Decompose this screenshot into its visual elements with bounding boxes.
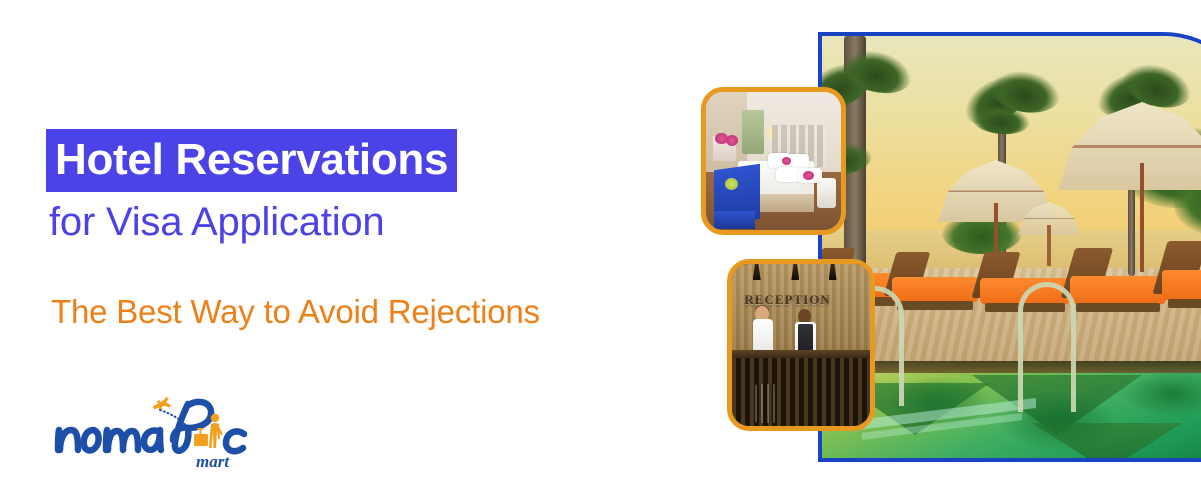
tagline: The Best Way to Avoid Rejections xyxy=(51,294,540,330)
suitcase-icon xyxy=(755,384,776,423)
hotel-room-photo xyxy=(701,87,846,235)
page-title: Hotel Reservations xyxy=(46,129,457,192)
nomadic-mart-logo[interactable]: mart xyxy=(48,388,258,478)
wardrobe-icon xyxy=(742,110,764,154)
banner-text-column: Hotel Reservations for Visa Application … xyxy=(0,0,690,501)
parasol-icon xyxy=(1018,202,1080,266)
bed-runner-skirt xyxy=(714,211,755,229)
hotel-reception-photo: RECEPTION xyxy=(727,259,875,431)
photo-collage: RECEPTION xyxy=(690,0,1201,501)
hotel-reservations-banner: Hotel Reservations for Visa Application … xyxy=(0,0,1201,501)
flowers-icon xyxy=(782,157,791,165)
resort-pool-sunset-photo xyxy=(818,32,1201,462)
reception-desk-top xyxy=(732,350,870,358)
nightstand-icon xyxy=(817,178,836,208)
sun-lounger-icon xyxy=(892,262,978,310)
sun-lounger-icon xyxy=(1162,250,1201,308)
subheadline: for Visa Application xyxy=(49,200,384,244)
sun-lounger-icon xyxy=(1070,258,1166,312)
pool-ladder-rail-icon xyxy=(1018,282,1076,412)
pillow-icon xyxy=(776,167,800,182)
headline-highlight: Hotel Reservations xyxy=(46,129,457,192)
logo-sub-wordmark: mart xyxy=(196,452,230,471)
reception-desk xyxy=(732,358,870,426)
